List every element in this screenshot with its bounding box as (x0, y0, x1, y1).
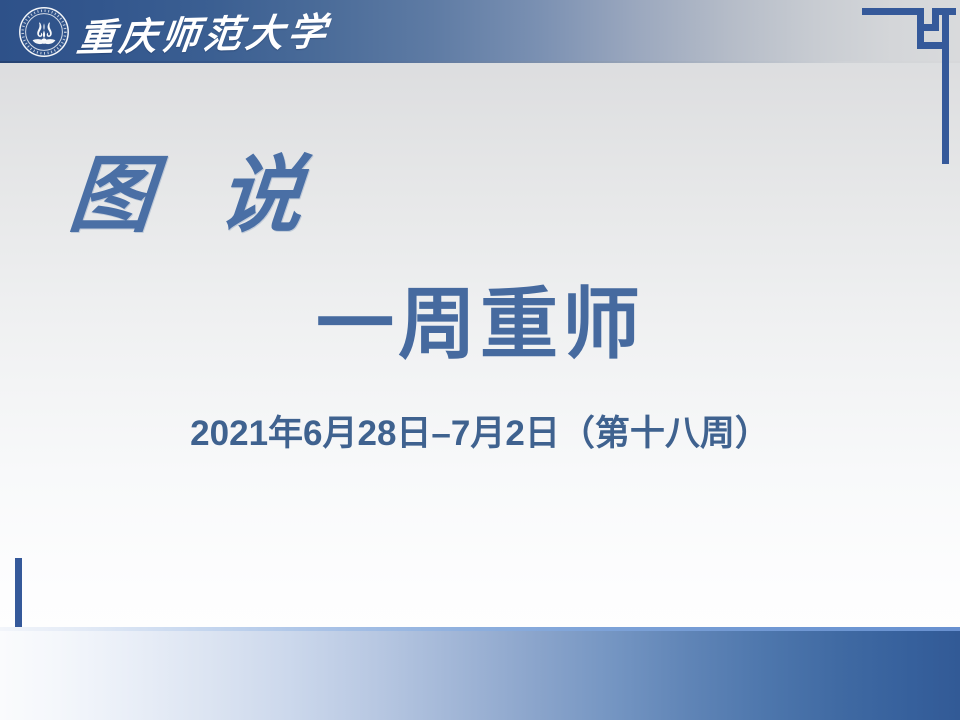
university-name: 重庆师范大学 (74, 0, 333, 63)
page-title-brush: 图 说 (65, 128, 327, 249)
corner-ornament-top-right-icon (850, 0, 960, 172)
subtitle-date-range: 2021年6月28日–7月2日（第十八周） (0, 405, 960, 456)
page-title-main: 一周重师 (0, 262, 960, 374)
footer-banner-body (0, 631, 960, 720)
university-seal-icon (18, 6, 70, 58)
footer-banner (0, 627, 960, 720)
presentation-slide: 重庆师范大学 图 说 一周重师 2021年6月28日–7 (0, 0, 960, 720)
